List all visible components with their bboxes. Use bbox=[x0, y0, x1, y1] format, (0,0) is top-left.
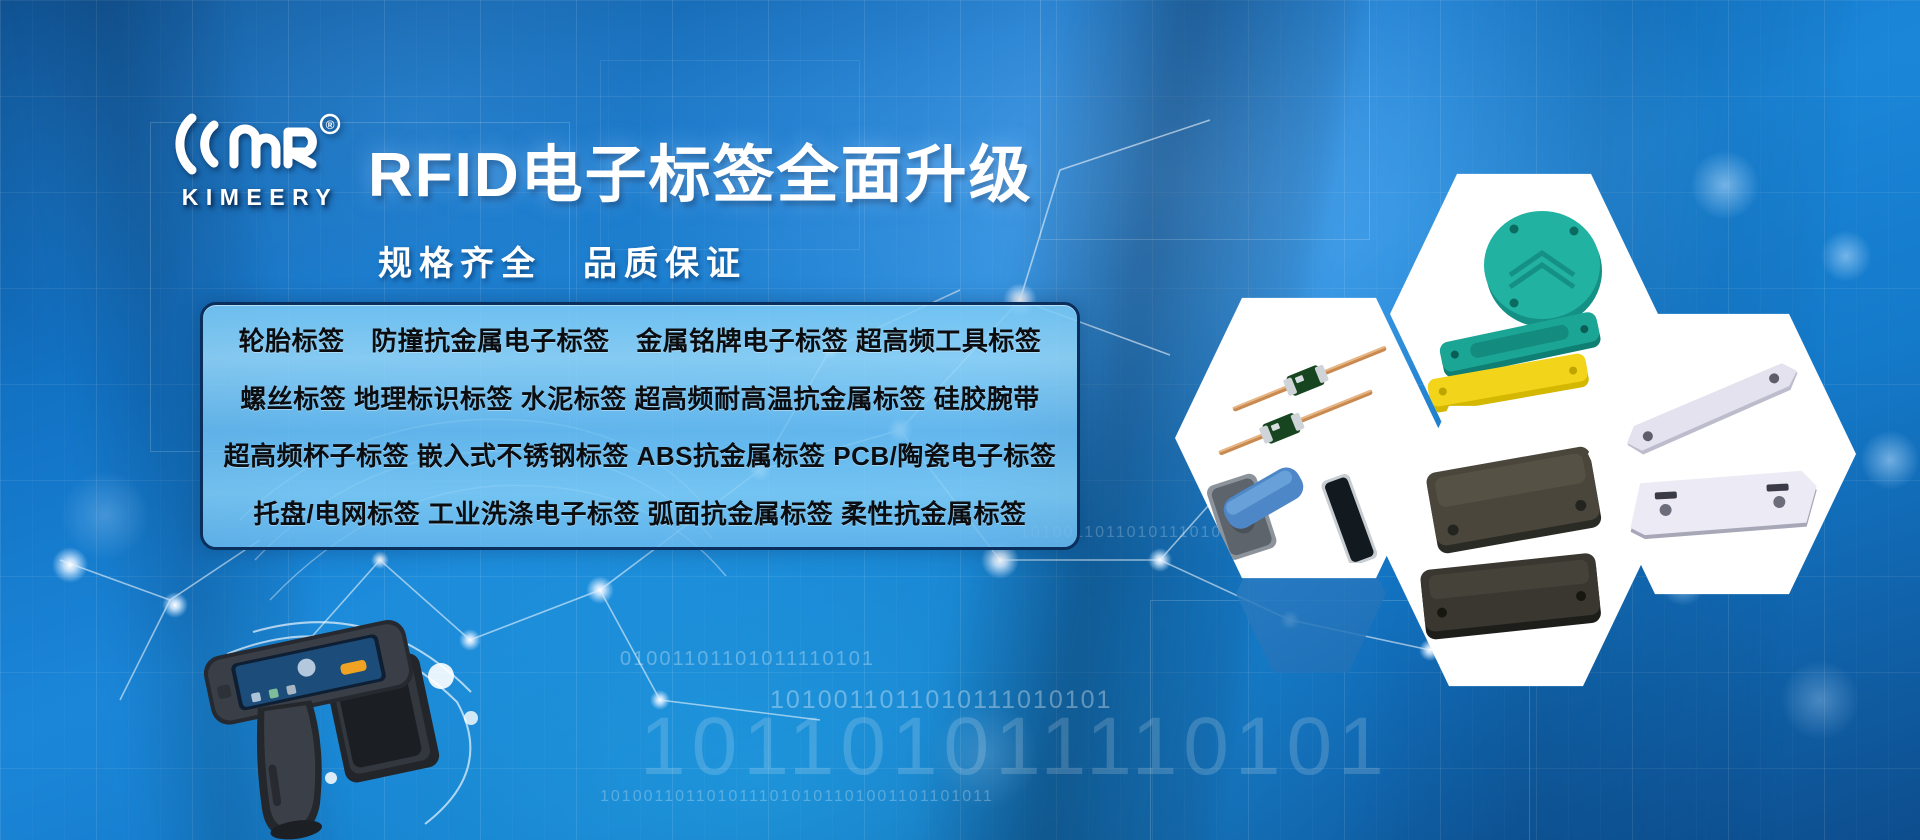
binary-text: 01001101101011110101 bbox=[620, 648, 875, 671]
glow-blob bbox=[1820, 230, 1872, 282]
list-item: 托盘/电网标签 工业洗涤电子标签 弧面抗金属标签 柔性抗金属标签 bbox=[203, 484, 1077, 542]
glow-blob bbox=[1690, 150, 1760, 220]
hex-accent-blue bbox=[1452, 508, 1582, 650]
abs-anti-metal-tags bbox=[1409, 439, 1624, 654]
hex-accent-blue bbox=[1236, 512, 1386, 676]
brand-logo: ® KIMEERY bbox=[170, 108, 350, 211]
page-subtitle: 规格齐全 品质保证 bbox=[378, 236, 747, 285]
hex-cell-tools-tags bbox=[1175, 292, 1443, 584]
kimeery-signal-logo: ® bbox=[170, 108, 350, 180]
glow-blob bbox=[60, 470, 150, 560]
list-item: 轮胎标签 防撞抗金属电子标签 金属铭牌电子标签 超高频工具标签 bbox=[203, 311, 1077, 369]
list-item: 超高频杯子标签 嵌入式不锈钢标签 ABS抗金属标签 PCB/陶瓷电子标签 bbox=[203, 426, 1077, 484]
glow-blob bbox=[1740, 330, 1780, 370]
glow-blob bbox=[1660, 560, 1706, 606]
tools-tag-products bbox=[1194, 313, 1424, 563]
handheld-reader-illustration bbox=[195, 610, 495, 840]
background-beam-right bbox=[1324, 0, 1857, 840]
page-title: RFID电子标签全面升级 bbox=[368, 124, 1033, 214]
background-panel-outline bbox=[1150, 600, 1530, 840]
glow-blob bbox=[1860, 430, 1920, 490]
glow-blob bbox=[1780, 660, 1860, 740]
hex-cell-round-tag bbox=[1390, 168, 1658, 460]
round-and-bar-tags bbox=[1414, 199, 1634, 429]
product-category-list: 轮胎标签 防撞抗金属电子标签 金属铭牌电子标签 超高频工具标签 螺丝标签 地理标… bbox=[200, 302, 1080, 550]
binary-text: 1010011011010111010101101001101101011 bbox=[600, 788, 994, 806]
background-panel-outline bbox=[1040, 0, 1370, 240]
list-item: 螺丝标签 地理标识标签 水泥标签 超高频耐高温抗金属标签 硅胶腕带 bbox=[203, 369, 1077, 427]
glow-blob bbox=[930, 700, 1040, 810]
rfid-promo-banner: 01001101101011110101 1010011011010111010… bbox=[0, 0, 1920, 840]
binary-text: 101101011110101 bbox=[640, 700, 1390, 794]
registered-mark: ® bbox=[326, 118, 335, 132]
brand-wordmark: KIMEERY bbox=[170, 184, 350, 211]
handheld-rfid-reader bbox=[195, 610, 495, 840]
hex-cell-abs-tag bbox=[1382, 400, 1650, 692]
binary-text: 1010011011010111010101 bbox=[770, 686, 1112, 715]
long-anti-metal-tags bbox=[1607, 349, 1837, 559]
hex-cell-pcb-tag bbox=[1588, 308, 1856, 600]
